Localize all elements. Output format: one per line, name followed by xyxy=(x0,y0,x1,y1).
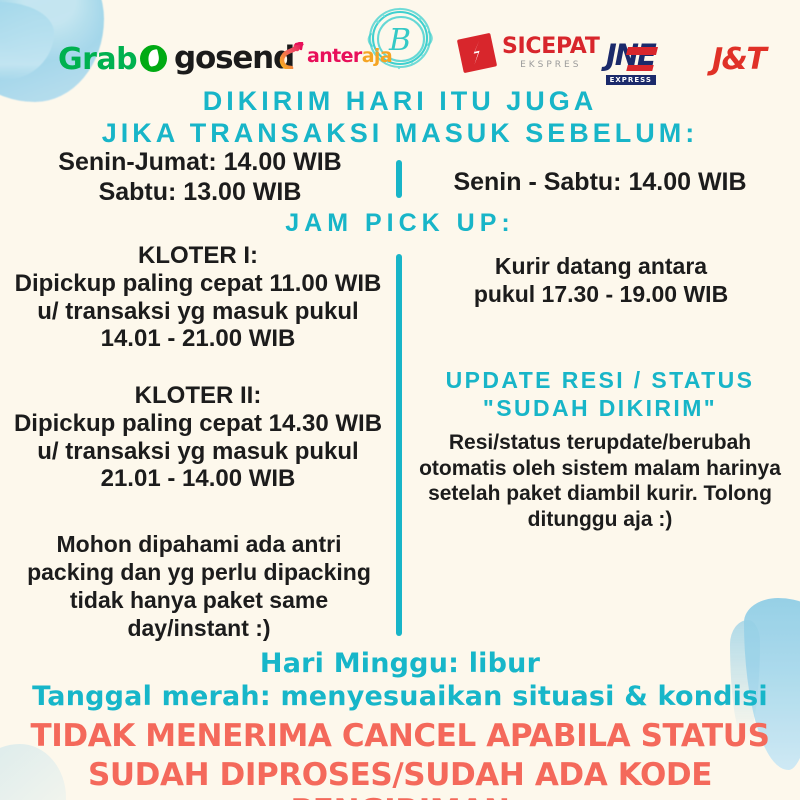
cutoff-hours-left: Senin-Jumat: 14.00 WIB Sabtu: 13.00 WIB xyxy=(10,148,390,207)
update-status-body-line-4: ditunggu aja :) xyxy=(404,507,796,533)
footer-holiday-note: Tanggal merah: menyesuaikan situasi & ko… xyxy=(0,681,800,712)
jnt-wordmark: J&T xyxy=(712,42,765,77)
shipping-schedule-poster: B Grab gosend xyxy=(0,0,800,800)
courier-logo-jnt: J&T xyxy=(712,42,765,77)
courier-logo-gosend: gosend xyxy=(140,40,294,76)
update-status-body-line-2: otomatis oleh sistem malam harinya xyxy=(404,456,796,482)
update-status-heading: UPDATE RESI / STATUS "SUDAH DIKIRIM" xyxy=(404,366,796,422)
headline-pickup: JAM PICK UP: xyxy=(0,209,800,238)
anteraja-wordmark-primary: anter xyxy=(307,45,362,67)
sicepat-wordmark: SICEPAT xyxy=(502,36,600,58)
packing-note-line-3: tidak hanya paket same xyxy=(6,586,392,614)
headline-secondary: JIKA TRANSAKSI MASUK SEBELUM: xyxy=(0,118,800,149)
kloter-1-line-2: u/ transaksi yg masuk pukul xyxy=(0,298,396,326)
sicepat-mark-icon xyxy=(457,33,497,73)
cutoff-weekday: Senin-Jumat: 14.00 WIB xyxy=(10,148,390,178)
divider-long xyxy=(396,254,402,636)
sicepat-subtitle: EKSPRES xyxy=(502,61,600,70)
anteraja-wordmark-secondary: aja xyxy=(362,45,392,67)
kloter-2-block: KLOTER II: Dipickup paling cepat 14.30 W… xyxy=(0,382,396,493)
courier-arrival-block: Kurir datang antara pukul 17.30 - 19.00 … xyxy=(410,253,792,308)
packing-note-line-2: packing dan yg perlu dipacking xyxy=(6,558,392,586)
footer-sunday-note: Hari Minggu: libur xyxy=(0,648,800,679)
cutoff-monsat: Senin - Sabtu: 14.00 WIB xyxy=(410,168,790,198)
courier-logo-row: Grab gosend xyxy=(0,36,800,86)
courier-logo-sicepat: SICEPAT EKSPRES xyxy=(460,36,600,70)
kloter-2-line-1: Dipickup paling cepat 14.30 WIB xyxy=(0,410,396,438)
gosend-mark-icon xyxy=(140,45,167,72)
packing-note-line-1: Mohon dipahami ada antri xyxy=(6,530,392,558)
divider-short xyxy=(396,160,402,198)
update-status-heading-line-1: UPDATE RESI / STATUS xyxy=(404,366,796,394)
kloter-2-title: KLOTER II: xyxy=(0,382,396,410)
courier-logo-anteraja: anter aja xyxy=(278,42,392,69)
jne-subtitle: EXPRESS xyxy=(606,75,656,85)
update-status-body-line-1: Resi/status terupdate/berubah xyxy=(404,430,796,456)
footer-warning-line-1: TIDAK MENERIMA CANCEL APABILA STATUS xyxy=(0,718,800,754)
jne-red-bar-icon xyxy=(626,47,658,55)
cutoff-saturday: Sabtu: 13.00 WIB xyxy=(10,178,390,208)
cutoff-hours-right: Senin - Sabtu: 14.00 WIB xyxy=(410,168,790,198)
headline-primary: DIKIRIM HARI ITU JUGA xyxy=(0,86,800,117)
jne-red-bar-lower-icon xyxy=(626,65,653,71)
kloter-1-block: KLOTER I: Dipickup paling cepat 11.00 WI… xyxy=(0,242,396,353)
update-status-heading-line-2: "SUDAH DIKIRIM" xyxy=(404,394,796,422)
kloter-1-line-3: 14.01 - 21.00 WIB xyxy=(0,325,396,353)
anteraja-mark-icon xyxy=(278,42,304,69)
packing-note-line-4: day/instant :) xyxy=(6,614,392,642)
gosend-wordmark: gosend xyxy=(174,40,294,76)
packing-note-block: Mohon dipahami ada antri packing dan yg … xyxy=(6,530,392,642)
courier-arrival-line-2: pukul 17.30 - 19.00 WIB xyxy=(410,281,792,309)
footer-warning-line-2: SUDAH DIPROSES/SUDAH ADA KODE PENGIRIMAN xyxy=(0,757,800,800)
update-status-body-line-3: setelah paket diambil kurir. Tolong xyxy=(404,481,796,507)
courier-logo-jne: JNE EXPRESS xyxy=(606,38,655,72)
kloter-2-line-2: u/ transaksi yg masuk pukul xyxy=(0,438,396,466)
kloter-2-line-3: 21.01 - 14.00 WIB xyxy=(0,465,396,493)
grab-wordmark: Grab xyxy=(58,42,137,77)
courier-logo-grab: Grab xyxy=(58,42,137,77)
kloter-1-line-1: Dipickup paling cepat 11.00 WIB xyxy=(0,270,396,298)
kloter-1-title: KLOTER I: xyxy=(0,242,396,270)
update-status-body: Resi/status terupdate/berubah otomatis o… xyxy=(404,430,796,532)
courier-arrival-line-1: Kurir datang antara xyxy=(410,253,792,281)
